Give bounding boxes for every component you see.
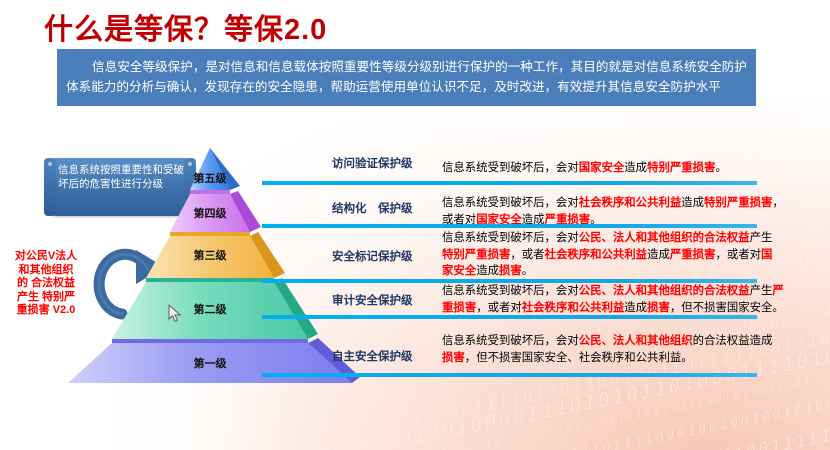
page-title: 什么是等保？等保2.0	[44, 6, 327, 48]
plain-text: ，或者对	[715, 249, 761, 261]
plain-text: 的合法权益造成	[693, 335, 773, 347]
plain-text: ，但不损害国家安全。	[670, 302, 784, 314]
pyramid-level-1-label: 第一级	[165, 355, 255, 371]
row-separator	[262, 224, 757, 228]
grade-description: 信息系统受到破坏后，会对公民、法人和其他组织的合法权益造成损害，但不损害国家安全…	[442, 333, 802, 366]
description-line: 家安全造成损害。	[442, 263, 802, 280]
plain-text: ，	[772, 197, 783, 209]
description-line: 信息系统受到破坏后，会对公民、法人和其他组织的合法权益造成	[442, 333, 802, 350]
description-line: 特别严重损害，或者社会秩序和公共利益造成严重损害，或者对国	[442, 247, 802, 264]
description-line: 重损害，或者对社会秩序和公共利益造成损害，但不损害国家安全。	[442, 300, 802, 317]
plain-text: 信息系统受到破坏后，会对	[442, 197, 579, 209]
plain-text: 造成	[624, 162, 647, 174]
slide-canvas: 0111001110110001100000100100010100001111…	[0, 0, 830, 450]
highlighted-text: 社会秩序和公共利益	[522, 302, 625, 314]
highlighted-text: 国	[761, 249, 772, 261]
plain-text: 。	[522, 265, 533, 277]
intro-text: 信息安全等级保护，是对信息和信息载体按照重要性等级分级别进行保护的一种工作，其目…	[66, 60, 747, 94]
highlighted-text: 严	[772, 285, 783, 297]
grade-name-label: 结构化 保护级	[332, 200, 413, 216]
plain-text: 信息系统受到破坏后，会对	[442, 285, 579, 297]
pyramid-diagram: 第五级 第四级 第三级 第二级 第一级	[60, 140, 360, 390]
plain-text: 产生	[750, 232, 773, 244]
plain-text: 信息系统受到破坏后，会对	[442, 162, 579, 174]
pyramid-level-4-label: 第四级	[165, 205, 255, 221]
callout-stud-left	[48, 162, 52, 166]
plain-text: ，或者对	[476, 302, 522, 314]
plain-text: 造成	[681, 197, 704, 209]
highlighted-text: 社会秩序和公共利益	[579, 197, 682, 209]
highlighted-text: 损害	[442, 352, 465, 364]
highlighted-text: 特别严重损害	[647, 162, 715, 174]
plain-text: 造成	[647, 249, 670, 261]
highlighted-text: 公民、法人和其他组织	[579, 335, 693, 347]
highlighted-text: 损害	[647, 302, 670, 314]
grade-description: 信息系统受到破坏后，会对公民、法人和其他组织的合法权益产生特别严重损害，或者社会…	[442, 230, 802, 280]
highlighted-text: 国家安全	[579, 162, 625, 174]
highlighted-text: 特别严重损害	[704, 197, 772, 209]
pyramid-level-5-label: 第五级	[165, 170, 255, 186]
row-separator	[262, 373, 757, 377]
mouse-cursor-icon	[168, 304, 182, 324]
grade-name-label: 访问验证保护级	[332, 155, 413, 171]
description-line: 损害，但不损害国家安全、社会秩序和公共利益。	[442, 350, 802, 367]
description-line: 信息系统受到破坏后，会对公民、法人和其他组织的合法权益产生	[442, 230, 802, 247]
binary-row: 0111100011100000011000001111010100011001…	[188, 432, 830, 450]
plain-text: ，或者	[510, 249, 544, 261]
grade-name-label: 安全标记保护级	[332, 248, 413, 264]
description-line: 信息系统受到破坏后，会对国家安全造成特别严重损害。	[442, 160, 802, 177]
grade-name-label: 自主安全保护级	[332, 348, 413, 364]
pyramid-level-3-label: 第三级	[165, 247, 255, 263]
highlighted-text: 特别严重损害	[442, 249, 510, 261]
plain-text: 产生	[750, 285, 773, 297]
intro-paragraph: 信息安全等级保护，是对信息和信息载体按照重要性等级分级别进行保护的一种工作，其目…	[57, 49, 756, 106]
description-line: 信息系统受到破坏后，会对社会秩序和公共利益造成特别严重损害，	[442, 195, 802, 212]
description-line: 信息系统受到破坏后，会对公民、法人和其他组织的合法权益产生严	[442, 283, 802, 300]
plain-text: 造成	[476, 265, 499, 277]
plain-text: 造成	[624, 302, 647, 314]
grade-name-label: 审计安全保护级	[332, 292, 413, 308]
plain-text: 信息系统受到破坏后，会对	[442, 335, 579, 347]
highlighted-text: 家安全	[442, 265, 476, 277]
highlighted-text: 重损害	[442, 302, 476, 314]
callout-bracket-left	[44, 158, 56, 216]
row-separator	[262, 315, 757, 319]
highlighted-text: 公民、法人和其他组织的合法权益	[579, 285, 750, 297]
row-separator	[262, 181, 757, 185]
plain-text: ，但不损害国家安全、社会秩序和公共利益。	[465, 352, 693, 364]
plain-text: 。	[715, 162, 726, 174]
grade-description: 信息系统受到破坏后，会对公民、法人和其他组织的合法权益产生严重损害，或者对社会秩…	[442, 283, 802, 316]
highlighted-text: 损害	[499, 265, 522, 277]
plain-text: 信息系统受到破坏后，会对	[442, 232, 579, 244]
highlighted-text: 社会秩序和公共利益	[545, 249, 648, 261]
highlighted-text: 公民、法人和其他组织的合法权益	[579, 232, 750, 244]
binary-row: 1111001100001000111000000001100110011011…	[224, 399, 830, 450]
grade-description: 信息系统受到破坏后，会对国家安全造成特别严重损害。	[442, 160, 802, 177]
highlighted-text: 严重损害	[670, 249, 716, 261]
